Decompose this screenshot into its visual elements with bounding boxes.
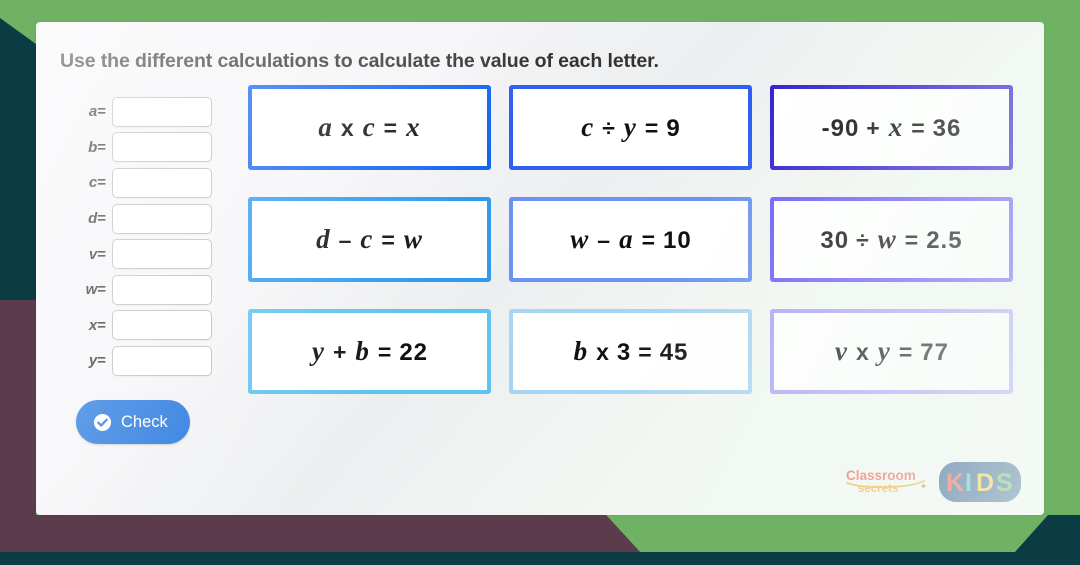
answer-row: a= (76, 94, 236, 130)
equation-grid: axc=x c÷y=9 -90+x=36 d–c=w w–a=10 30÷w=2… (248, 85, 1013, 394)
classroom-secrets-line1: Classroom (846, 468, 916, 483)
classroom-secrets-line2: secrets (858, 483, 898, 495)
equation-text: y+b=22 (309, 336, 430, 367)
equation-card[interactable]: -90+x=36 (770, 85, 1013, 170)
equation-text: c÷y=9 (578, 112, 682, 143)
answer-label-b: b= (76, 139, 112, 156)
answer-label-y: y= (76, 352, 112, 369)
answer-label-v: v= (76, 246, 112, 263)
equation-text: axc=x (315, 112, 423, 143)
equation-card[interactable]: bx3=45 (509, 309, 752, 394)
answer-row: d= (76, 201, 236, 237)
answer-input-d[interactable] (112, 204, 212, 234)
equation-text: bx3=45 (571, 336, 691, 367)
answer-row: c= (76, 165, 236, 201)
answer-row: w= (76, 272, 236, 308)
answer-row: x= (76, 308, 236, 344)
equation-text: vxy=77 (832, 336, 951, 367)
answer-label-w: w= (76, 281, 112, 298)
answer-row: v= (76, 236, 236, 272)
equation-text: w–a=10 (567, 224, 693, 255)
answer-input-c[interactable] (112, 168, 212, 198)
kids-letter-d: D (976, 469, 994, 497)
answer-input-x[interactable] (112, 310, 212, 340)
kids-letter-k: K (946, 469, 964, 497)
answer-row: b= (76, 130, 236, 166)
answer-label-a: a= (76, 103, 112, 120)
kids-letter-s: S (996, 469, 1013, 497)
check-button-label: Check (121, 413, 168, 432)
answer-label-c: c= (76, 174, 112, 191)
equation-card[interactable]: d–c=w (248, 197, 491, 282)
answer-input-y[interactable] (112, 346, 212, 376)
equation-text: 30÷w=2.5 (818, 224, 964, 255)
answer-input-w[interactable] (112, 275, 212, 305)
equation-card[interactable]: w–a=10 (509, 197, 752, 282)
equation-card[interactable]: y+b=22 (248, 309, 491, 394)
kids-letter-i: I (965, 469, 972, 497)
kids-badge-logo: K I D S (938, 459, 1022, 505)
page-title: Use the different calculations to calcul… (60, 50, 659, 73)
answer-input-a[interactable] (112, 97, 212, 127)
answer-row: y= (76, 343, 236, 379)
branding: Classroom secrets K I D S (844, 459, 1022, 505)
answer-input-b[interactable] (112, 132, 212, 162)
classroom-secrets-logo: Classroom secrets (844, 466, 930, 498)
equation-text: -90+x=36 (820, 112, 964, 143)
equation-card[interactable]: c÷y=9 (509, 85, 752, 170)
check-button[interactable]: Check (76, 400, 190, 444)
check-circle-icon (93, 413, 112, 432)
answer-label-d: d= (76, 210, 112, 227)
answer-list: a= b= c= d= v= w= (76, 94, 236, 379)
page-frame: Use the different calculations to calcul… (0, 0, 1080, 565)
answer-input-v[interactable] (112, 239, 212, 269)
equation-card[interactable]: vxy=77 (770, 309, 1013, 394)
equation-card[interactable]: 30÷w=2.5 (770, 197, 1013, 282)
equation-text: d–c=w (313, 224, 426, 255)
equation-card[interactable]: axc=x (248, 85, 491, 170)
activity-sheet: Use the different calculations to calcul… (36, 22, 1044, 515)
answer-label-x: x= (76, 317, 112, 334)
